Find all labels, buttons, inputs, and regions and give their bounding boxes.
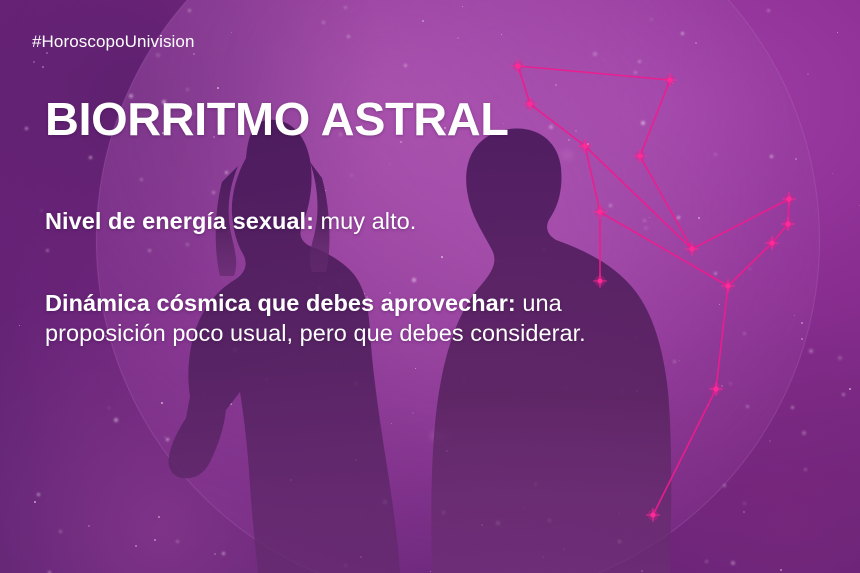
dynamic-label: Dinámica cósmica que debes aprovechar: [45, 290, 516, 316]
energy-label: Nivel de energía sexual: [45, 208, 314, 234]
hashtag-label: #HoroscopoUnivision [32, 32, 195, 52]
page-title: BIORRITMO ASTRAL [45, 96, 509, 142]
dynamic-value-part1: una [516, 290, 562, 316]
dynamic-line-2: proposición poco usual, pero que debes c… [45, 318, 586, 348]
energy-line: Nivel de energía sexual: muy alto. [45, 206, 416, 236]
dynamic-line-1: Dinámica cósmica que debes aprovechar: u… [45, 288, 562, 318]
energy-value: muy alto. [314, 208, 416, 234]
text-layer: #HoroscopoUnivision BIORRITMO ASTRAL Niv… [0, 0, 860, 573]
horoscope-card: #HoroscopoUnivision BIORRITMO ASTRAL Niv… [0, 0, 860, 573]
